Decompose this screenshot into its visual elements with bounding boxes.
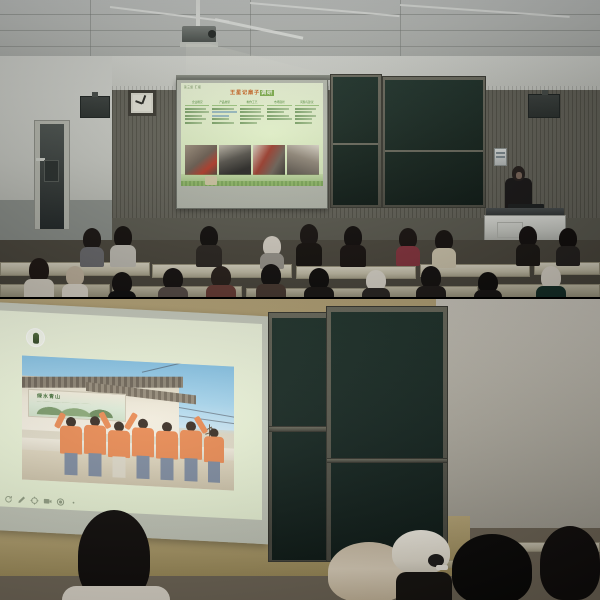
media-player-toolbar[interactable] xyxy=(2,492,94,510)
desk-row xyxy=(0,284,110,298)
student xyxy=(516,226,540,264)
student xyxy=(362,270,390,298)
slide-column: 产品类型 xyxy=(212,100,236,142)
student xyxy=(196,226,222,264)
student xyxy=(416,266,446,298)
pencil-icon[interactable] xyxy=(17,495,26,504)
camera-icon[interactable] xyxy=(43,497,52,506)
mural-text: 绿水青山 xyxy=(37,392,61,400)
student xyxy=(260,236,284,266)
student xyxy=(536,266,566,298)
slide-column-heading: 企业概况 xyxy=(185,100,209,106)
slide-photo xyxy=(219,145,251,175)
slide-group-photo: 绿水青山 xyxy=(22,355,234,490)
slide-title-main: 王星记扇子 xyxy=(230,90,260,96)
slide-photo-strip xyxy=(185,145,319,175)
slide-top: 第三组 汇报 王星记扇子调研 企业概况 产品类型 制作工艺 xyxy=(181,83,323,186)
slide-watermark-logo-icon xyxy=(26,328,45,348)
student xyxy=(396,228,420,264)
person-far-right xyxy=(540,526,600,600)
photo-person xyxy=(180,420,202,481)
slide-column-heading: 产品类型 xyxy=(212,100,236,106)
slide-column-heading: 问题与建议 xyxy=(295,100,319,106)
speaker-icon-right xyxy=(528,94,560,118)
slide-title-highlight: 调研 xyxy=(260,90,274,96)
student xyxy=(474,272,502,298)
blackboard-rail xyxy=(326,458,448,463)
bottom-photo-panel: 绿水青山 xyxy=(0,298,600,600)
slide-footer-decoration xyxy=(181,174,323,186)
student xyxy=(256,264,286,298)
collage-stage: 第三组 汇报 王星记扇子调研 企业概况 产品类型 制作工艺 xyxy=(0,0,600,600)
wall-placard xyxy=(494,148,507,166)
panel-seam xyxy=(0,297,600,299)
person-cap-neck xyxy=(396,572,452,600)
rotate-icon[interactable] xyxy=(4,495,13,504)
student xyxy=(556,228,580,264)
slide-column: 问题与建议 xyxy=(295,100,319,142)
fullscreen-icon[interactable] xyxy=(30,496,39,505)
speaker-icon-left xyxy=(80,96,110,118)
side-wall xyxy=(436,298,600,528)
record-icon[interactable] xyxy=(56,497,65,506)
student xyxy=(304,268,334,298)
ceiling xyxy=(0,0,600,62)
person-shoulder-left xyxy=(62,586,170,600)
student xyxy=(110,226,136,264)
baseball-cap xyxy=(392,530,450,574)
student xyxy=(206,266,236,298)
projection-screen-bottom: 绿水青山 xyxy=(0,302,268,544)
slide-column: 企业概况 xyxy=(185,100,209,142)
wall-clock-icon xyxy=(128,90,156,116)
person-dark-hair-right xyxy=(452,534,532,600)
slide-column-heading: 市场现状 xyxy=(267,100,291,106)
photo-person xyxy=(84,415,106,476)
slide-photo xyxy=(253,145,285,175)
student xyxy=(108,272,136,298)
slide-column-heading: 制作工艺 xyxy=(240,100,264,106)
photo-person xyxy=(132,418,154,479)
slide-photo xyxy=(185,145,217,175)
slide-title: 王星记扇子调研 xyxy=(181,89,323,96)
student xyxy=(158,268,188,298)
projection-screen-top: 第三组 汇报 王星记扇子调研 企业概况 产品类型 制作工艺 xyxy=(176,79,328,209)
student xyxy=(80,228,104,264)
photo-person xyxy=(156,421,178,480)
slide-pottery-graphic xyxy=(205,176,217,185)
student xyxy=(432,230,456,264)
more-icon[interactable] xyxy=(69,498,78,507)
slide-bottom: 绿水青山 xyxy=(0,310,262,520)
slide-column: 制作工艺 xyxy=(240,100,264,142)
student xyxy=(24,258,54,298)
student xyxy=(296,224,322,264)
projector-lens xyxy=(208,30,216,38)
slide-columns: 企业概况 产品类型 制作工艺 市场现状 xyxy=(185,100,319,142)
photo-person xyxy=(204,428,224,483)
slide-photo xyxy=(287,145,319,175)
photo-person xyxy=(60,416,82,475)
student xyxy=(62,266,88,298)
slide-column: 市场现状 xyxy=(267,100,291,142)
top-photo-panel: 第三组 汇报 王星记扇子调研 企业概况 产品类型 制作工艺 xyxy=(0,0,600,298)
blackboard-rail xyxy=(268,426,330,432)
student xyxy=(340,226,366,264)
